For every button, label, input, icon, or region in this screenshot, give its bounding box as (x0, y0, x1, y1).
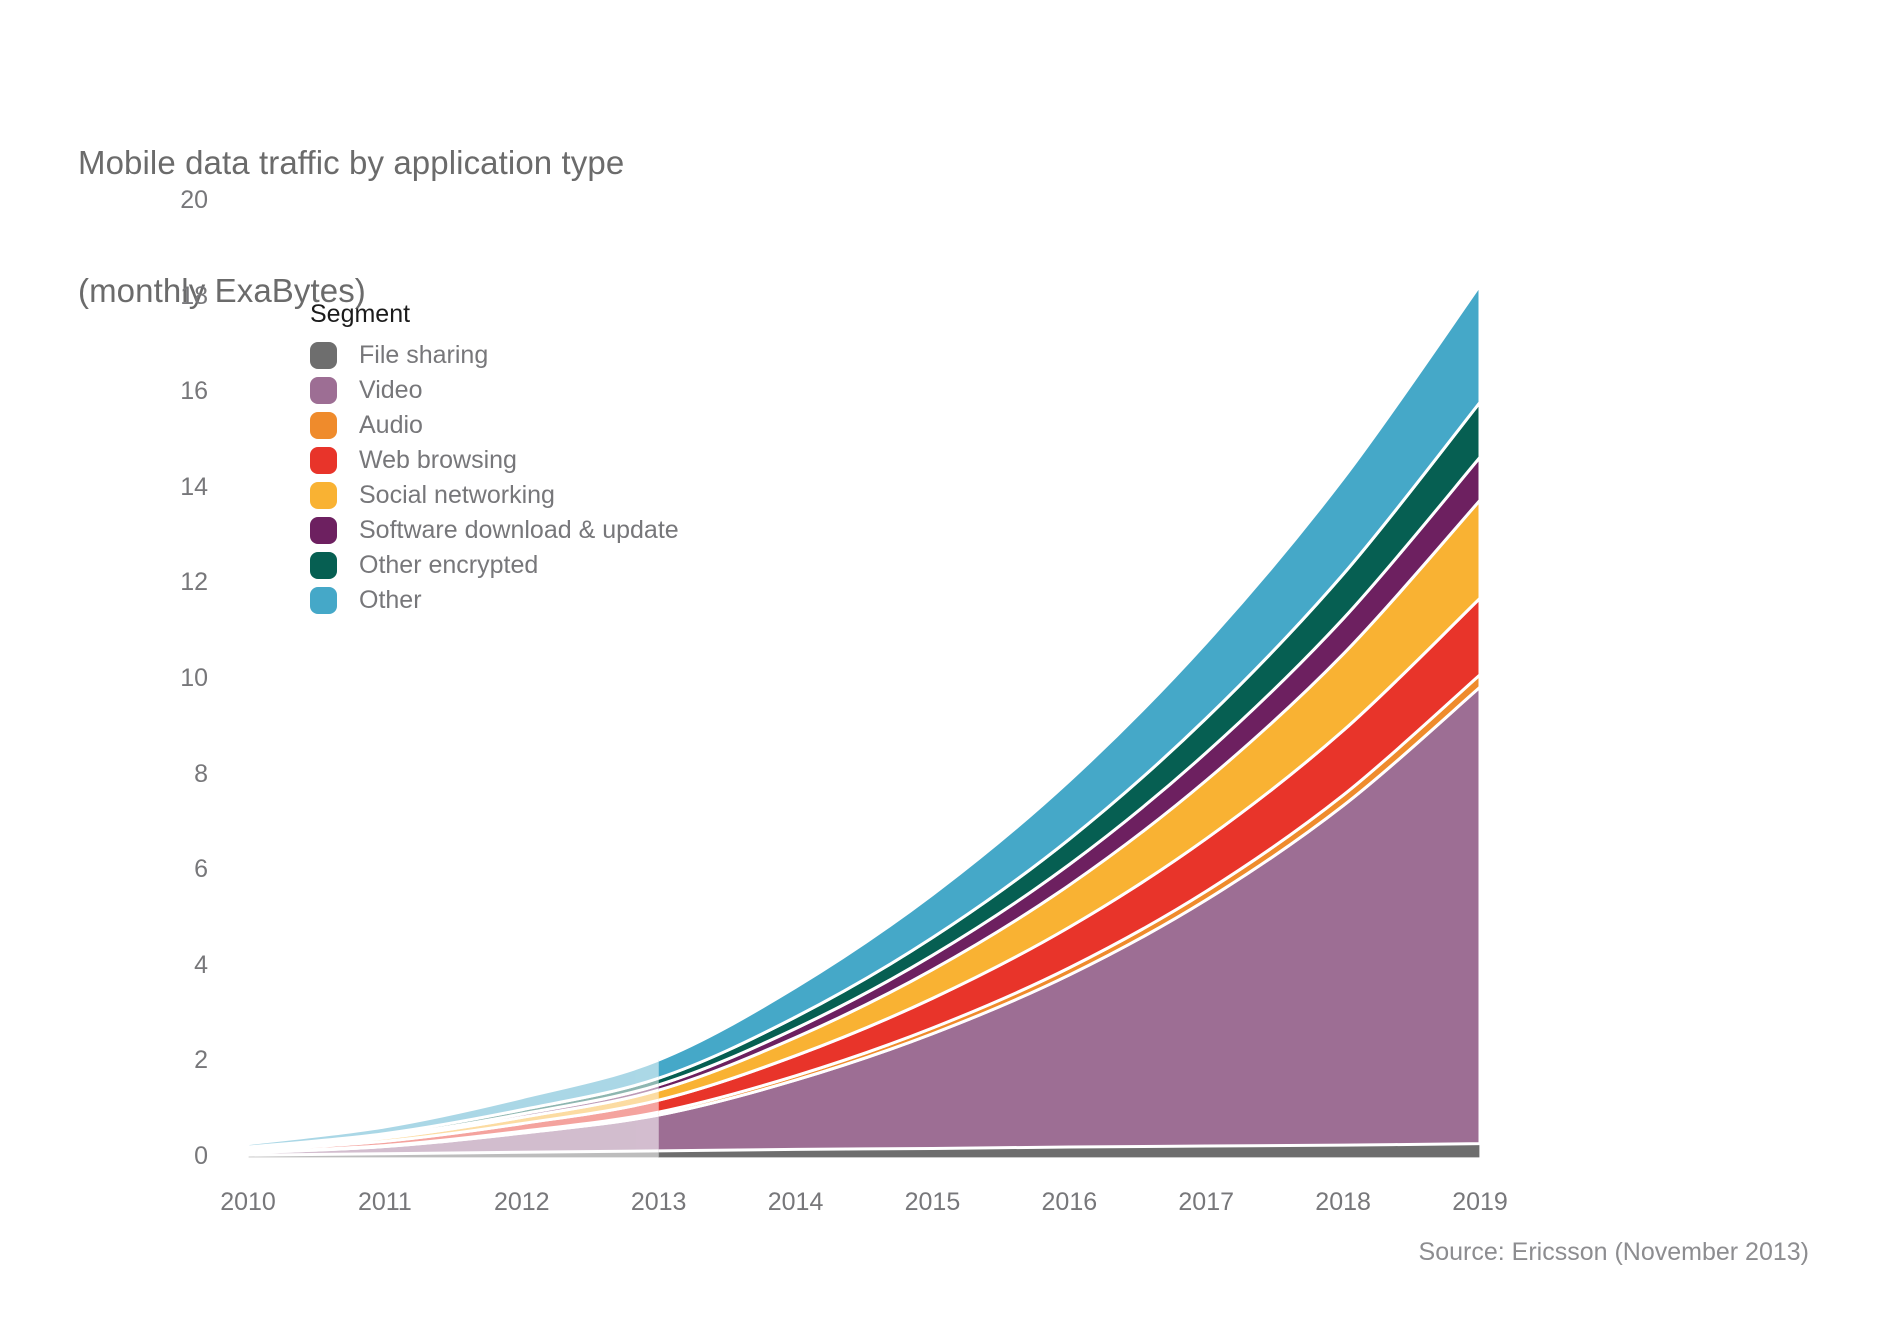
y-tick-4: 4 (138, 951, 208, 980)
legend-label: Web browsing (359, 446, 517, 475)
y-tick-8: 8 (138, 760, 208, 789)
legend-swatch-icon (310, 552, 337, 579)
legend-label: Software download & update (359, 516, 679, 545)
chart-root: Mobile data traffic by application type … (0, 0, 1889, 1341)
x-tick-2013: 2013 (594, 1188, 724, 1217)
x-tick-2014: 2014 (731, 1188, 861, 1217)
legend-label: Video (359, 376, 423, 405)
x-tick-2015: 2015 (867, 1188, 997, 1217)
y-tick-12: 12 (138, 568, 208, 597)
legend-swatch-icon (310, 377, 337, 404)
y-tick-6: 6 (138, 855, 208, 884)
legend-item-audio[interactable]: Audio (310, 408, 679, 443)
y-tick-18: 18 (138, 282, 208, 311)
plot-area (0, 0, 1889, 1341)
legend-item-file-sharing[interactable]: File sharing (310, 338, 679, 373)
legend-item-other-encrypted[interactable]: Other encrypted (310, 548, 679, 583)
y-tick-2: 2 (138, 1046, 208, 1075)
x-tick-2011: 2011 (320, 1188, 450, 1217)
legend-swatch-icon (310, 412, 337, 439)
legend-item-video[interactable]: Video (310, 373, 679, 408)
x-tick-2010: 2010 (183, 1188, 313, 1217)
legend-title: Segment (310, 300, 679, 329)
legend-label: File sharing (359, 341, 488, 370)
legend-swatch-icon (310, 482, 337, 509)
x-tick-2016: 2016 (1004, 1188, 1134, 1217)
legend-swatch-icon (310, 342, 337, 369)
y-tick-20: 20 (138, 186, 208, 215)
legend-item-social-networking[interactable]: Social networking (310, 478, 679, 513)
source-note: Source: Ericsson (November 2013) (1419, 1238, 1809, 1267)
x-tick-2019: 2019 (1415, 1188, 1545, 1217)
legend-swatch-icon (310, 517, 337, 544)
legend-label: Audio (359, 411, 423, 440)
legend-label: Social networking (359, 481, 555, 510)
legend-item-other[interactable]: Other (310, 583, 679, 618)
legend-label: Other encrypted (359, 551, 538, 580)
legend-swatch-icon (310, 447, 337, 474)
x-tick-2018: 2018 (1278, 1188, 1408, 1217)
y-tick-0: 0 (138, 1142, 208, 1171)
y-tick-10: 10 (138, 664, 208, 693)
legend-items: File sharingVideoAudioWeb browsingSocial… (310, 338, 679, 618)
legend-swatch-icon (310, 587, 337, 614)
legend-item-web-browsing[interactable]: Web browsing (310, 443, 679, 478)
stacked-area-plot (0, 0, 1889, 1341)
x-tick-2017: 2017 (1141, 1188, 1271, 1217)
legend: Segment File sharingVideoAudioWeb browsi… (310, 300, 679, 618)
legend-label: Other (359, 586, 422, 615)
y-tick-16: 16 (138, 377, 208, 406)
y-tick-14: 14 (138, 473, 208, 502)
x-tick-2012: 2012 (457, 1188, 587, 1217)
legend-item-software-download-update[interactable]: Software download & update (310, 513, 679, 548)
